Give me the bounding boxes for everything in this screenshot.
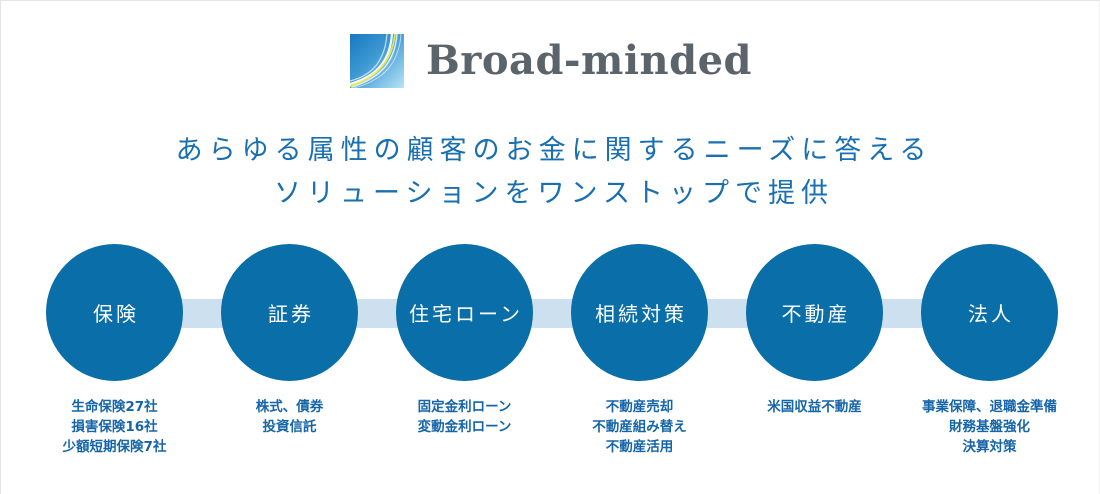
flow-node-label: 証券 — [265, 298, 314, 327]
flow-node-inheritance[interactable]: 相続対策 — [571, 244, 708, 381]
caption-line: 不動産組み替え — [571, 417, 708, 437]
caption-line: 財務基盤強化 — [921, 417, 1058, 437]
caption-line: 不動産売却 — [571, 397, 708, 417]
flow-node-label: 相続対策 — [592, 298, 687, 327]
service-flow-diagram: 保険 証券 住宅ローン 相続対策 不動産 法人 — [46, 244, 1058, 384]
headline-line-2: ソリューションをワンストップで提供 — [1, 172, 1100, 215]
flow-caption-corporate: 事業保障、退職金準備 財務基盤強化 決算対策 — [921, 397, 1058, 457]
flow-node-label: 保険 — [90, 298, 139, 327]
headline-line-1: あらゆる属性の顧客のお金に関するニーズに答える — [1, 129, 1100, 172]
flow-caption-securities: 株式、債券 投資信託 — [221, 397, 358, 437]
caption-line: 少額短期保険7社 — [46, 437, 183, 457]
flow-node-list: 保険 証券 住宅ローン 相続対策 不動産 法人 — [46, 244, 1058, 384]
flow-node-label: 不動産 — [779, 298, 851, 327]
caption-line: 事業保障、退職金準備 — [921, 397, 1058, 417]
caption-line: 生命保険27社 — [46, 397, 183, 417]
page-title: あらゆる属性の顧客のお金に関するニーズに答える ソリューションをワンストップで提… — [1, 129, 1100, 215]
flow-node-label: 法人 — [965, 298, 1014, 327]
caption-line: 不動産活用 — [571, 437, 708, 457]
brand-header: Broad-minded — [1, 34, 1100, 88]
flow-node-label: 住宅ローン — [406, 298, 523, 327]
caption-line: 投資信託 — [221, 417, 358, 437]
flow-node-insurance[interactable]: 保険 — [46, 244, 183, 381]
brand-wordmark: Broad-minded — [426, 41, 752, 81]
flow-caption-inheritance: 不動産売却 不動産組み替え 不動産活用 — [571, 397, 708, 457]
caption-line: 損害保険16社 — [46, 417, 183, 437]
slide-canvas: Broad-minded あらゆる属性の顧客のお金に関するニーズに答える ソリュ… — [0, 0, 1100, 494]
caption-line: 決算対策 — [921, 437, 1058, 457]
flow-node-home-loan[interactable]: 住宅ローン — [396, 244, 533, 381]
flow-node-securities[interactable]: 証券 — [221, 244, 358, 381]
caption-line: 米国収益不動産 — [746, 397, 883, 417]
flow-node-real-estate[interactable]: 不動産 — [746, 244, 883, 381]
caption-line: 固定金利ローン — [396, 397, 533, 417]
flow-caption-insurance: 生命保険27社 損害保険16社 少額短期保険7社 — [46, 397, 183, 457]
flow-node-corporate[interactable]: 法人 — [921, 244, 1058, 381]
flow-caption-home-loan: 固定金利ローン 変動金利ローン — [396, 397, 533, 437]
caption-line: 変動金利ローン — [396, 417, 533, 437]
caption-line: 株式、債券 — [221, 397, 358, 417]
broad-minded-logo-mark-icon — [350, 34, 404, 88]
flow-caption-real-estate: 米国収益不動産 — [746, 397, 883, 417]
flow-caption-list: 生命保険27社 損害保険16社 少額短期保険7社 株式、債券 投資信託 固定金利… — [46, 397, 1058, 457]
